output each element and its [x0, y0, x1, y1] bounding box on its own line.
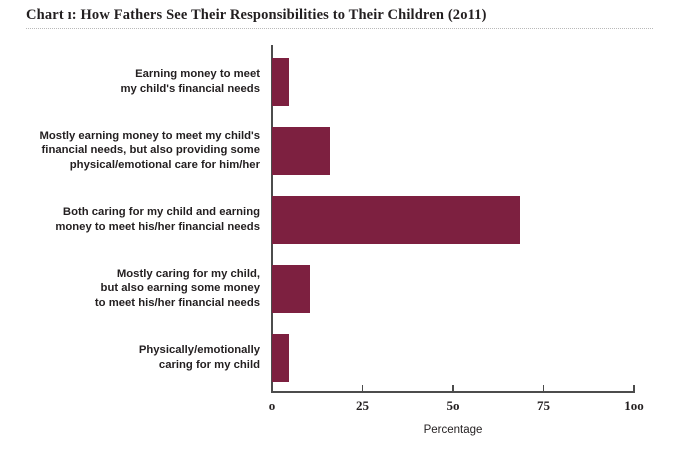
- x-tick-label-25: 25: [356, 398, 369, 414]
- category-label-4: Physically/emotionally caring for my chi…: [10, 343, 260, 372]
- x-tick-label-75: 75: [537, 398, 550, 414]
- bar-0: [272, 58, 289, 106]
- bar-2: [272, 196, 520, 244]
- x-tick-label-50: 5o: [447, 398, 460, 414]
- category-label-1: Mostly earning money to meet my child's …: [10, 129, 260, 173]
- x-tick-label-100: 1oo: [624, 398, 644, 414]
- category-label-3: Mostly caring for my child, but also ear…: [10, 267, 260, 311]
- bar-4: [272, 334, 289, 382]
- x-axis-title: Percentage: [272, 424, 634, 436]
- x-axis-line: [271, 391, 635, 393]
- x-tick-label-0: o: [269, 398, 276, 414]
- x-tick-50: [452, 385, 454, 391]
- category-label-2: Both caring for my child and earning mon…: [10, 205, 260, 234]
- bar-3: [272, 265, 310, 313]
- x-tick-0: [271, 385, 273, 391]
- x-tick-100: [633, 385, 635, 391]
- x-tick-25: [362, 385, 364, 391]
- bar-chart: Earning money to meet my child's financi…: [0, 0, 679, 450]
- x-tick-75: [543, 385, 545, 391]
- bar-1: [272, 127, 330, 175]
- category-label-0: Earning money to meet my child's financi…: [10, 67, 260, 96]
